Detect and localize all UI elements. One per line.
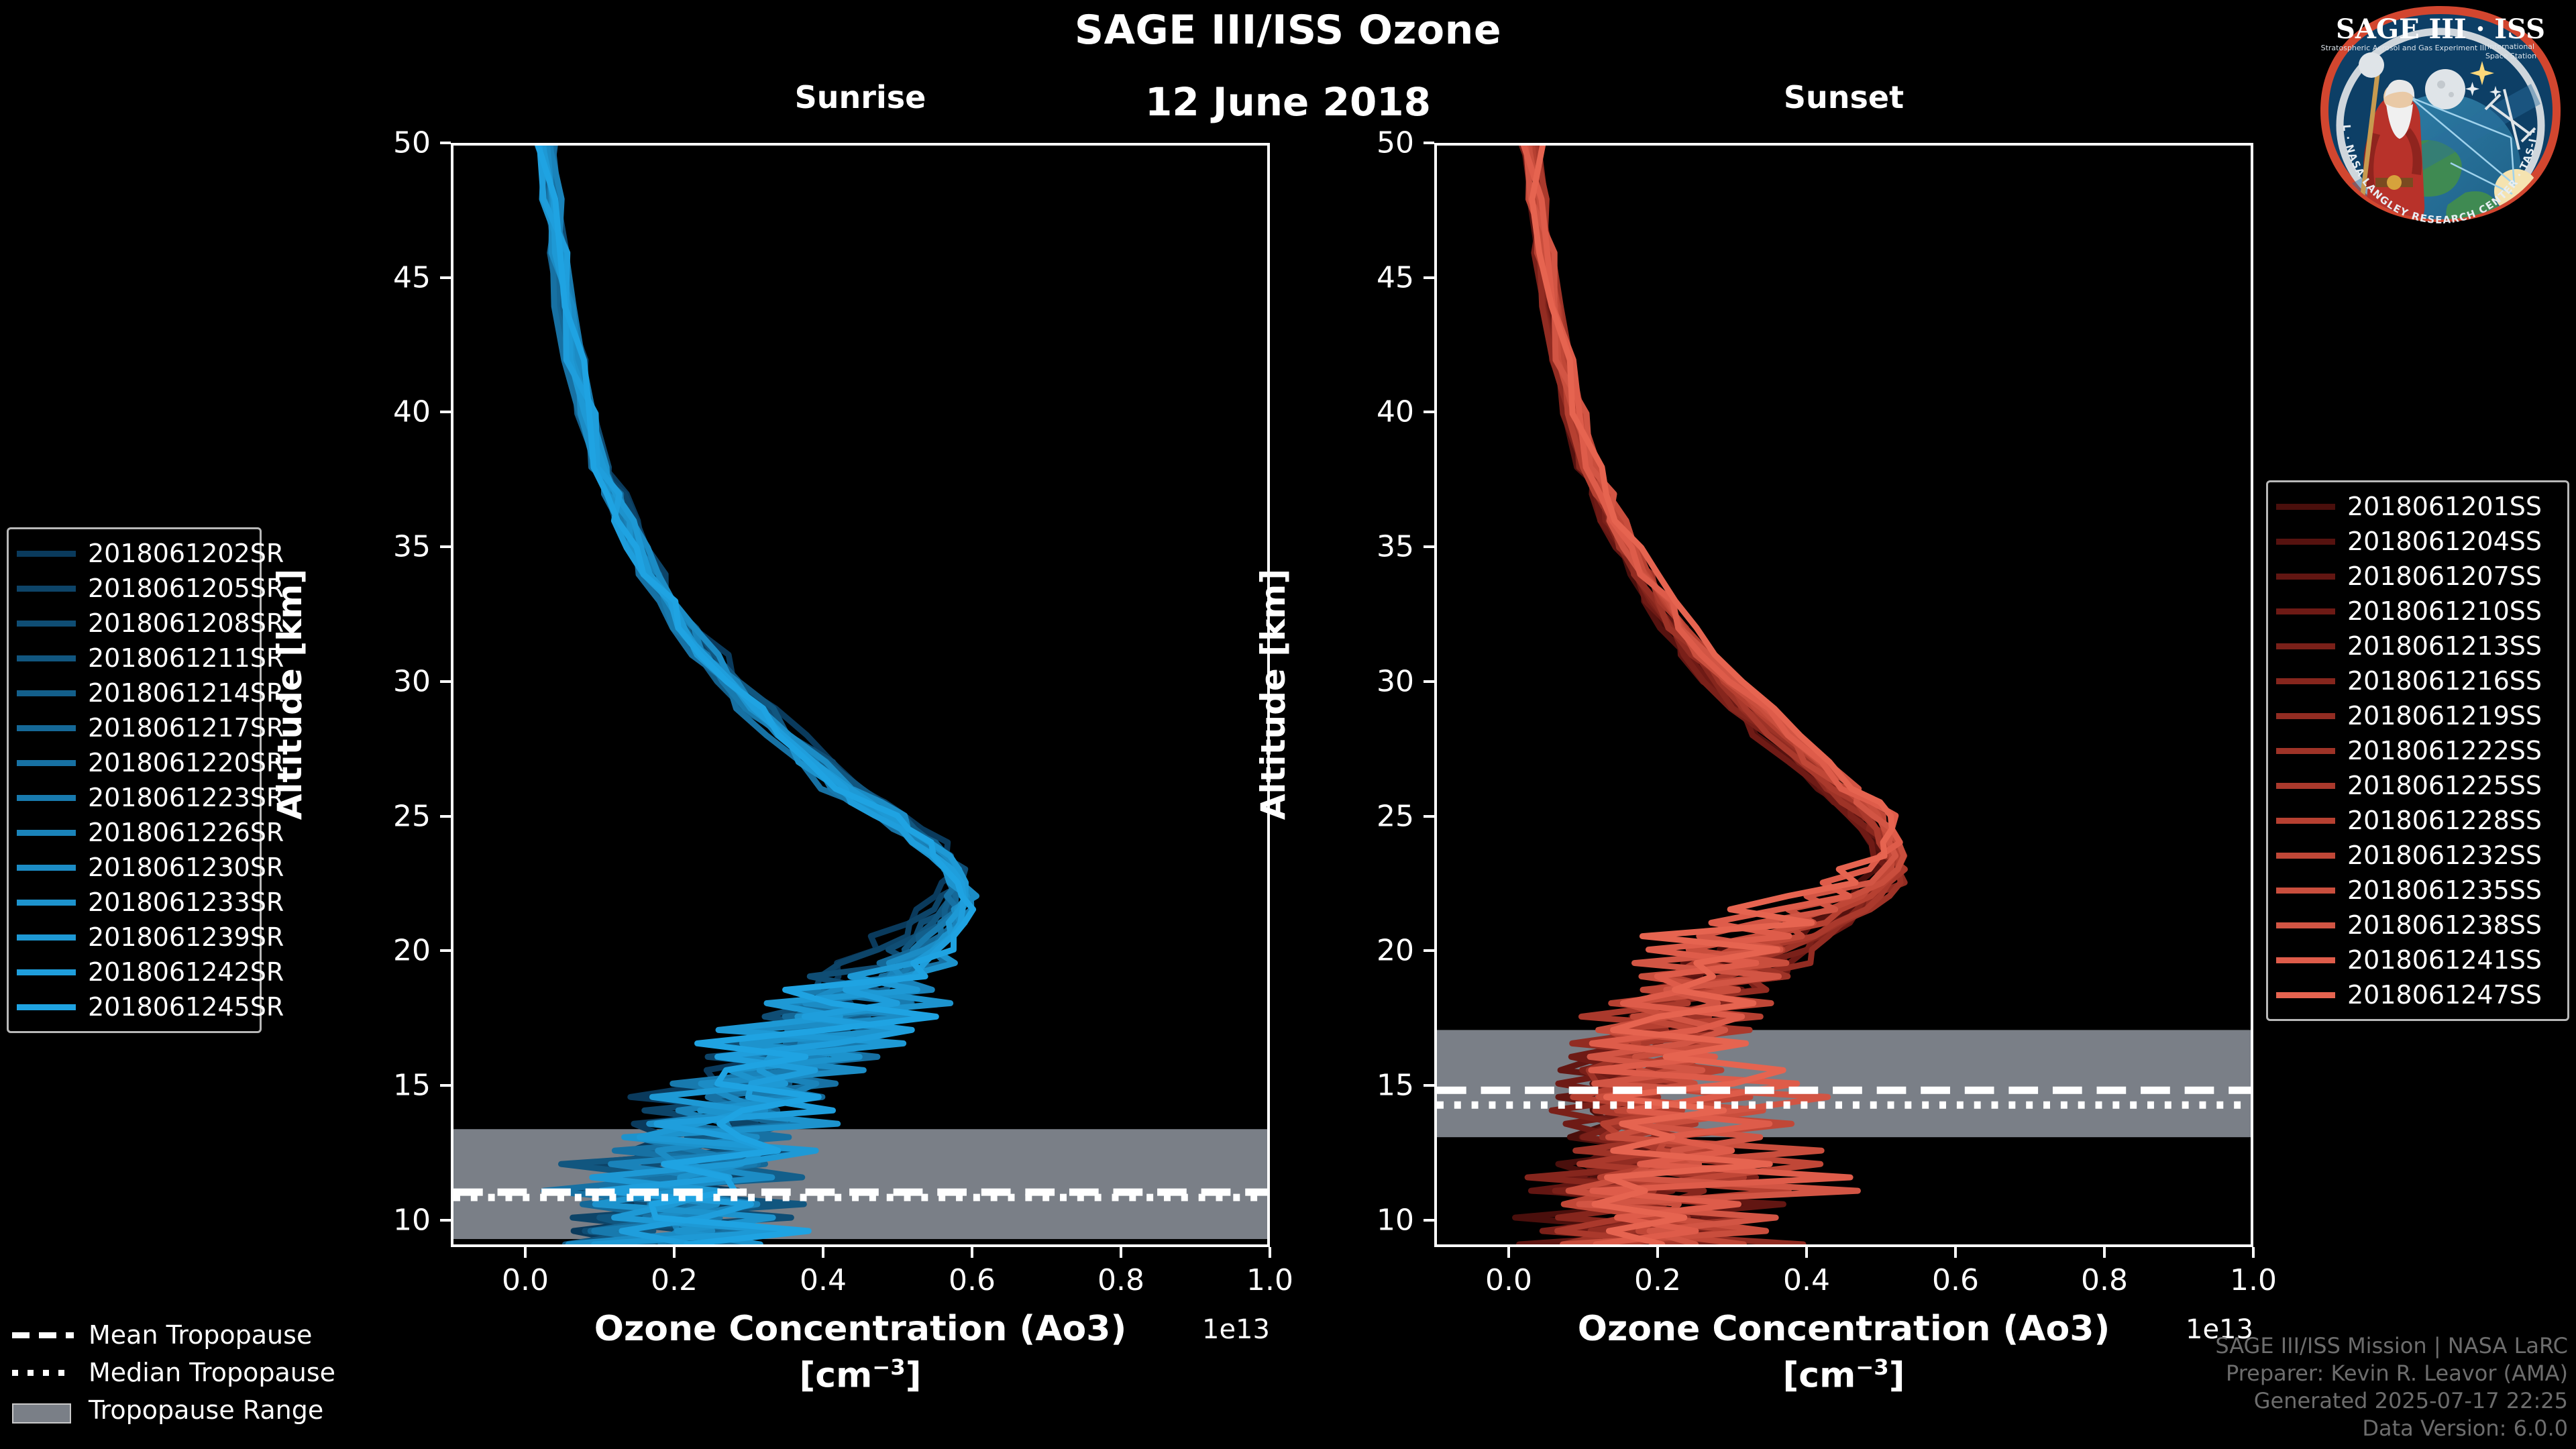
- y-tick-mark: [440, 545, 451, 548]
- legend-sunset-item[interactable]: 2018061216SS: [2276, 663, 2557, 698]
- legend-sunrise-label: 2018061239SR: [88, 924, 284, 950]
- legend-sunset-swatch: [2276, 574, 2335, 580]
- x-tick-label: 0.0: [1455, 1263, 1562, 1297]
- credit-line-version: Data Version: 6.0.0: [2215, 1415, 2568, 1442]
- x-tick-mark: [1507, 1247, 1510, 1258]
- legend-sunrise-item[interactable]: 2018061239SR: [17, 920, 249, 955]
- legend-sunset-label: 2018061207SS: [2347, 563, 2542, 589]
- x-tick-mark: [1954, 1247, 1957, 1258]
- legend-sunrise-item[interactable]: 2018061217SR: [17, 710, 249, 745]
- y-tick-label: 25: [1313, 799, 1414, 833]
- x-tick-mark: [2103, 1247, 2106, 1258]
- tropopause-range-key-icon: [12, 1403, 74, 1417]
- tropopause-range-band: [453, 1129, 1267, 1239]
- legend-sunrise-item[interactable]: 2018061211SR: [17, 641, 249, 676]
- legend-sunrise-swatch: [17, 760, 76, 766]
- units-suffix: ]: [1889, 1355, 1905, 1395]
- x-tick-label: 0.8: [1067, 1263, 1175, 1297]
- x-tick-mark: [2252, 1247, 2255, 1258]
- units-exponent: −3: [872, 1354, 905, 1380]
- legend-sunrise-item[interactable]: 2018061208SR: [17, 606, 249, 641]
- legend-sunrise-item[interactable]: 2018061220SR: [17, 745, 249, 780]
- x-tick-mark: [524, 1247, 527, 1258]
- legend-sunset-item[interactable]: 2018061238SS: [2276, 908, 2557, 943]
- legend-sunset-swatch: [2276, 748, 2335, 754]
- legend-sunrise-swatch: [17, 900, 76, 906]
- panel-title-sunset: Sunset: [1434, 79, 2253, 115]
- legend-sunrise-item[interactable]: 2018061226SR: [17, 815, 249, 850]
- panel-title-sunrise: Sunrise: [451, 79, 1270, 115]
- y-tick-label: 35: [1313, 530, 1414, 564]
- legend-sunrise-label: 2018061214SR: [88, 680, 284, 706]
- y-tick-mark: [440, 1219, 451, 1222]
- legend-sunset-label: 2018061232SS: [2347, 843, 2542, 868]
- legend-sunrise-item[interactable]: 2018061245SR: [17, 989, 249, 1024]
- y-tick-label: 50: [1313, 126, 1414, 160]
- legend-sunrise-item[interactable]: 2018061230SR: [17, 850, 249, 885]
- y-tick-label: 25: [330, 799, 431, 833]
- y-tick-label: 45: [330, 260, 431, 294]
- legend-sunrise-item[interactable]: 2018061242SR: [17, 955, 249, 989]
- legend-sunrise-swatch: [17, 621, 76, 627]
- legend-sunrise-label: 2018061217SR: [88, 715, 284, 741]
- legend-sunset-label: 2018061235SS: [2347, 877, 2542, 903]
- credit-line-generated: Generated 2025-07-17 22:25: [2215, 1387, 2568, 1415]
- credit-line-preparer: Preparer: Kevin R. Leavor (AMA): [2215, 1360, 2568, 1387]
- plot-area-sunset: [1434, 143, 2253, 1247]
- x-tick-label: 0.4: [769, 1263, 877, 1297]
- figure-canvas: SAGE III/ISS Ozone 12 June 2018 Sunrise …: [0, 0, 2576, 1449]
- page-title: SAGE III/ISS Ozone: [0, 7, 2576, 54]
- x-tick-mark: [1805, 1247, 1808, 1258]
- patch-moon-crater-b: [2449, 92, 2454, 97]
- y-tick-mark: [1424, 680, 1434, 683]
- legend-sunset-item[interactable]: 2018061210SS: [2276, 594, 2557, 629]
- legend-sunrise-swatch: [17, 725, 76, 731]
- median-tropopause-key-icon: [12, 1366, 74, 1379]
- legend-sunset-label: 2018061216SS: [2347, 668, 2542, 694]
- sage-iii-iss-mission-patch-icon: BALL · NASA LANGLEY RESEARCH CENTER · TA…: [2310, 3, 2571, 225]
- y-tick-mark: [440, 411, 451, 413]
- legend-sunrise-swatch: [17, 969, 76, 975]
- legend-sunrise-swatch: [17, 830, 76, 836]
- legend-sunrise-item[interactable]: 2018061233SR: [17, 885, 249, 920]
- legend-sunrise-swatch: [17, 551, 76, 557]
- legend-sunset-label: 2018061219SS: [2347, 703, 2542, 729]
- legend-sunset-swatch: [2276, 713, 2335, 719]
- legend-sunset-label: 2018061247SS: [2347, 982, 2542, 1008]
- mean-tropopause-key-icon: [12, 1328, 74, 1342]
- legend-tropopause-item[interactable]: Tropopause Range: [12, 1391, 361, 1429]
- x-axis-label-sunrise: Ozone Concentration (Ao3): [451, 1309, 1270, 1349]
- y-tick-mark: [440, 680, 451, 683]
- y-tick-label: 15: [1313, 1069, 1414, 1103]
- credits-block: SAGE III/ISS Mission | NASA LaRC Prepare…: [2215, 1332, 2568, 1442]
- legend-sunrise-label: 2018061211SR: [88, 645, 284, 671]
- legend-sunset-swatch: [2276, 608, 2335, 614]
- y-tick-label: 35: [330, 530, 431, 564]
- legend-sunrise-label: 2018061205SR: [88, 576, 284, 601]
- legend-sunset-swatch: [2276, 957, 2335, 963]
- x-tick-mark: [1656, 1247, 1659, 1258]
- legend-sunrise-item[interactable]: 2018061214SR: [17, 676, 249, 710]
- y-tick-mark: [440, 142, 451, 144]
- legend-sunrise-swatch: [17, 655, 76, 661]
- legend-tropopause-label: Mean Tropopause: [89, 1320, 312, 1350]
- y-tick-mark: [1424, 1219, 1434, 1222]
- x-axis-offset-sunrise: 1e13: [1202, 1314, 1270, 1345]
- x-tick-label: 0.4: [1753, 1263, 1860, 1297]
- patch-subtitle-right-2: Space Station: [2485, 52, 2536, 60]
- legend-sunrise-swatch: [17, 1004, 76, 1010]
- x-tick-label: 0.8: [2051, 1263, 2158, 1297]
- legend-sunrise-label: 2018061202SR: [88, 541, 284, 566]
- x-tick-mark: [673, 1247, 676, 1258]
- legend-sunset-item[interactable]: 2018061222SS: [2276, 733, 2557, 768]
- units-suffix: ]: [906, 1355, 922, 1395]
- legend-tropopause-item[interactable]: Mean Tropopause: [12, 1316, 361, 1354]
- y-tick-label: 45: [1313, 260, 1414, 294]
- legend-sunset-label: 2018061222SS: [2347, 738, 2542, 763]
- y-tick-label: 20: [1313, 934, 1414, 968]
- legend-sunrise-item[interactable]: 2018061205SR: [17, 571, 249, 606]
- legend-sunset-label: 2018061201SS: [2347, 494, 2542, 519]
- x-axis-units-sunrise: [cm−3]: [451, 1354, 1270, 1395]
- y-tick-mark: [1424, 815, 1434, 818]
- legend-sunset-swatch: [2276, 853, 2335, 859]
- patch-subtitle-left: Stratospheric Aerosol and Gas Experiment…: [2321, 44, 2487, 52]
- legend-sunset-swatch: [2276, 992, 2335, 998]
- x-axis-label-sunset: Ozone Concentration (Ao3): [1434, 1309, 2253, 1349]
- x-tick-label: 1.0: [2200, 1263, 2307, 1297]
- legend-sunset-item[interactable]: 2018061232SS: [2276, 838, 2557, 873]
- y-tick-label: 15: [330, 1069, 431, 1103]
- y-tick-mark: [1424, 411, 1434, 413]
- credit-line-mission: SAGE III/ISS Mission | NASA LaRC: [2215, 1332, 2568, 1360]
- legend-sunset-swatch: [2276, 539, 2335, 545]
- units-prefix: [cm: [1783, 1355, 1856, 1395]
- y-tick-mark: [440, 949, 451, 952]
- sunrise-profile-lines: [453, 146, 1267, 1244]
- sunset-profile-lines: [1437, 146, 2251, 1244]
- legend-sunset-item[interactable]: 2018061247SS: [2276, 977, 2557, 1012]
- x-tick-mark: [1269, 1247, 1271, 1258]
- y-tick-label: 10: [1313, 1203, 1414, 1237]
- legend-sunset-swatch: [2276, 818, 2335, 824]
- legend-sunrise-swatch: [17, 586, 76, 592]
- legend-sunset-swatch: [2276, 888, 2335, 894]
- legend-sunset-swatch: [2276, 643, 2335, 649]
- legend-sunset-item[interactable]: 2018061219SS: [2276, 698, 2557, 733]
- y-tick-label: 30: [1313, 664, 1414, 698]
- units-prefix: [cm: [800, 1355, 873, 1395]
- x-tick-label: 0.0: [472, 1263, 579, 1297]
- legend-sunrise-swatch: [17, 690, 76, 696]
- y-tick-label: 40: [1313, 395, 1414, 429]
- legend-sunrise-label: 2018061233SR: [88, 890, 284, 915]
- x-tick-label: 1.0: [1216, 1263, 1324, 1297]
- x-tick-label: 0.2: [1604, 1263, 1711, 1297]
- legend-sunrise-swatch: [17, 865, 76, 871]
- y-tick-label: 20: [330, 934, 431, 968]
- y-axis-label-sunset: Altitude [km]: [1254, 480, 1293, 909]
- legend-sunset-label: 2018061228SS: [2347, 808, 2542, 833]
- x-tick-label: 0.6: [918, 1263, 1026, 1297]
- legend-sunrise-item[interactable]: 2018061202SR: [17, 536, 249, 571]
- y-tick-label: 40: [330, 395, 431, 429]
- x-tick-label: 0.2: [621, 1263, 728, 1297]
- legend-sunrise[interactable]: 2018061202SR2018061205SR2018061208SR2018…: [7, 527, 262, 1033]
- legend-tropopause-label: Median Tropopause: [89, 1358, 335, 1387]
- y-tick-mark: [1424, 276, 1434, 279]
- y-tick-mark: [440, 1084, 451, 1087]
- legend-tropopause-label: Tropopause Range: [89, 1395, 323, 1425]
- x-tick-mark: [822, 1247, 824, 1258]
- legend-sunset-label: 2018061241SS: [2347, 947, 2542, 973]
- y-tick-mark: [1424, 949, 1434, 952]
- legend-sunset-label: 2018061225SS: [2347, 773, 2542, 798]
- legend-sunset-item[interactable]: 2018061235SS: [2276, 873, 2557, 908]
- patch-moon: [2425, 69, 2465, 109]
- legend-sunrise-label: 2018061223SR: [88, 785, 284, 810]
- legend-sunset-item[interactable]: 2018061241SS: [2276, 943, 2557, 977]
- legend-sunset-label: 2018061210SS: [2347, 598, 2542, 624]
- median-tropopause-key-icon-glyph: [12, 1370, 74, 1376]
- y-tick-mark: [1424, 1084, 1434, 1087]
- y-tick-mark: [1424, 142, 1434, 144]
- legend-sunrise-label: 2018061245SR: [88, 994, 284, 1020]
- legend-sunrise-swatch: [17, 934, 76, 941]
- y-tick-mark: [440, 276, 451, 279]
- legend-sunset-swatch: [2276, 678, 2335, 684]
- legend-sunset-item[interactable]: 2018061228SS: [2276, 803, 2557, 838]
- x-axis-units-sunset: [cm−3]: [1434, 1354, 2253, 1395]
- legend-sunset-item[interactable]: 2018061207SS: [2276, 559, 2557, 594]
- legend-tropopause-item[interactable]: Median Tropopause: [12, 1354, 361, 1391]
- legend-sunset-item[interactable]: 2018061213SS: [2276, 629, 2557, 663]
- x-tick-mark: [1120, 1247, 1122, 1258]
- legend-tropopause[interactable]: Mean TropopauseMedian TropopauseTropopau…: [12, 1316, 361, 1429]
- y-tick-label: 50: [330, 126, 431, 160]
- legend-sunset-swatch: [2276, 504, 2335, 510]
- patch-moon-crater-a: [2437, 80, 2445, 89]
- legend-sunset-item[interactable]: 2018061201SS: [2276, 489, 2557, 524]
- legend-sunset-label: 2018061238SS: [2347, 912, 2542, 938]
- legend-sunset[interactable]: 2018061201SS2018061204SS2018061207SS2018…: [2266, 480, 2569, 1021]
- legend-sunrise-label: 2018061220SR: [88, 750, 284, 775]
- legend-sunrise-item[interactable]: 2018061223SR: [17, 780, 249, 815]
- legend-sunset-label: 2018061213SS: [2347, 633, 2542, 659]
- y-tick-label: 10: [330, 1203, 431, 1237]
- plot-area-sunrise: [451, 143, 1270, 1247]
- legend-sunset-item[interactable]: 2018061225SS: [2276, 768, 2557, 803]
- y-tick-mark: [1424, 545, 1434, 548]
- legend-sunrise-swatch: [17, 795, 76, 801]
- x-tick-mark: [971, 1247, 973, 1258]
- legend-sunrise-label: 2018061208SR: [88, 610, 284, 636]
- tropopause-range-key-icon-glyph: [12, 1403, 71, 1424]
- legend-sunset-item[interactable]: 2018061204SS: [2276, 524, 2557, 559]
- mean-tropopause-key-icon-glyph: [12, 1332, 74, 1338]
- legend-sunset-swatch: [2276, 783, 2335, 789]
- legend-sunrise-label: 2018061226SR: [88, 820, 284, 845]
- legend-sunset-swatch: [2276, 922, 2335, 928]
- legend-sunrise-label: 2018061242SR: [88, 959, 284, 985]
- patch-subtitle-right-1: International: [2487, 42, 2534, 51]
- units-exponent: −3: [1856, 1354, 1888, 1380]
- legend-sunset-label: 2018061204SS: [2347, 529, 2542, 554]
- x-tick-label: 0.6: [1902, 1263, 2009, 1297]
- legend-sunrise-label: 2018061230SR: [88, 855, 284, 880]
- y-tick-label: 30: [330, 664, 431, 698]
- y-tick-mark: [440, 815, 451, 818]
- patch-title: SAGE III · ISS: [2336, 13, 2545, 45]
